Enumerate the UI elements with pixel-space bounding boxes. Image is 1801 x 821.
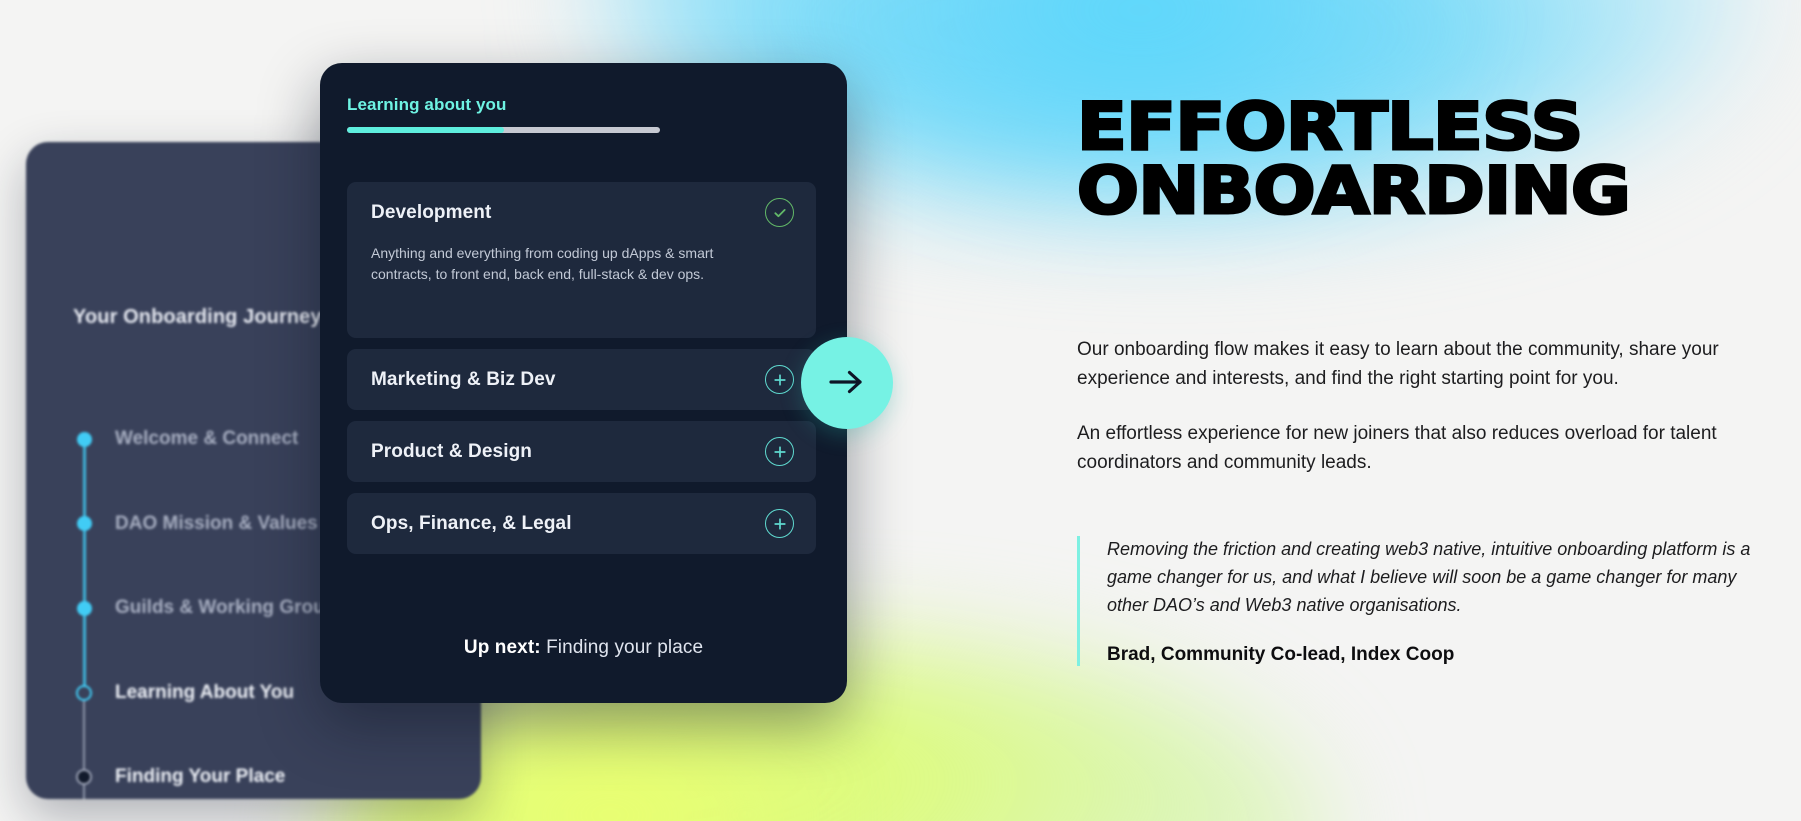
option-header-row: Marketing & Biz Dev [371, 365, 794, 394]
journey-connector-line [83, 524, 86, 609]
journey-step-current-dot-icon [73, 682, 95, 704]
testimonial-blockquote: Removing the friction and creating web3 … [1077, 536, 1777, 666]
option-title: Product & Design [371, 441, 532, 463]
page-title: EFFORTLESS ONBOARDING [1077, 96, 1801, 223]
option-header-row: Product & Design [371, 437, 794, 466]
journey-step-dot-icon [73, 597, 95, 619]
intro-paragraph-1: Our onboarding flow makes it easy to lea… [1077, 336, 1767, 394]
marketing-copy-column: EFFORTLESS ONBOARDING Our onboarding flo… [1077, 96, 1777, 666]
option-title: Development [371, 202, 491, 224]
journey-step-dot-icon [73, 513, 95, 535]
journey-step-label: DAO Mission & Values [115, 513, 318, 535]
interest-options-list: Development Anything and everything from… [347, 182, 816, 565]
journey-step-label: Learning About You [115, 682, 294, 704]
step-card-heading: Learning about you [347, 95, 507, 115]
arrow-right-icon [827, 368, 867, 399]
plus-circle-icon[interactable] [765, 365, 794, 394]
journey-step-label: Finding Your Place [115, 766, 285, 788]
check-circle-icon[interactable] [765, 198, 794, 227]
testimonial-text: Removing the friction and creating web3 … [1107, 536, 1775, 620]
option-product-design[interactable]: Product & Design [347, 421, 816, 482]
journey-step-finding-your-place[interactable]: Finding Your Place [73, 735, 481, 799]
testimonial-author: Brad, Community Co-lead, Index Coop [1107, 644, 1777, 666]
journey-connector-line [83, 609, 86, 694]
journey-connector-line [83, 693, 85, 778]
option-header-row: Ops, Finance, & Legal [371, 509, 794, 538]
journey-card-title: Your Onboarding Journey [73, 306, 322, 329]
journey-connector-line [83, 440, 86, 525]
progress-bar-track [347, 127, 660, 133]
journey-step-todo-dot-icon [73, 766, 95, 788]
journey-step-label: Welcome & Connect [115, 428, 298, 450]
option-ops-finance-legal[interactable]: Ops, Finance, & Legal [347, 493, 816, 554]
option-title: Marketing & Biz Dev [371, 369, 556, 391]
up-next-label: Up next: [464, 637, 541, 658]
step-card-footer: Up next: Finding your place [320, 637, 847, 659]
intro-paragraph-2: An effortless experience for new joiners… [1077, 420, 1767, 478]
up-next-text: Up next: Finding your place [464, 637, 703, 659]
option-title: Ops, Finance, & Legal [371, 513, 572, 535]
plus-circle-icon[interactable] [765, 509, 794, 538]
option-marketing-biz-dev[interactable]: Marketing & Biz Dev [347, 349, 816, 410]
up-next-value: Finding your place [541, 637, 703, 658]
option-development[interactable]: Development Anything and everything from… [347, 182, 816, 338]
learning-about-you-card: Learning about you Development Anything … [320, 63, 847, 703]
headline-line-2: ONBOARDING [1077, 154, 1630, 229]
progress-bar-fill [347, 127, 504, 133]
next-step-button[interactable] [801, 337, 893, 429]
journey-step-dot-icon [73, 428, 95, 450]
option-header-row: Development [371, 198, 794, 227]
option-description: Anything and everything from coding up d… [371, 243, 775, 284]
journey-step-label: Guilds & Working Groups [115, 597, 347, 619]
plus-circle-icon[interactable] [765, 437, 794, 466]
